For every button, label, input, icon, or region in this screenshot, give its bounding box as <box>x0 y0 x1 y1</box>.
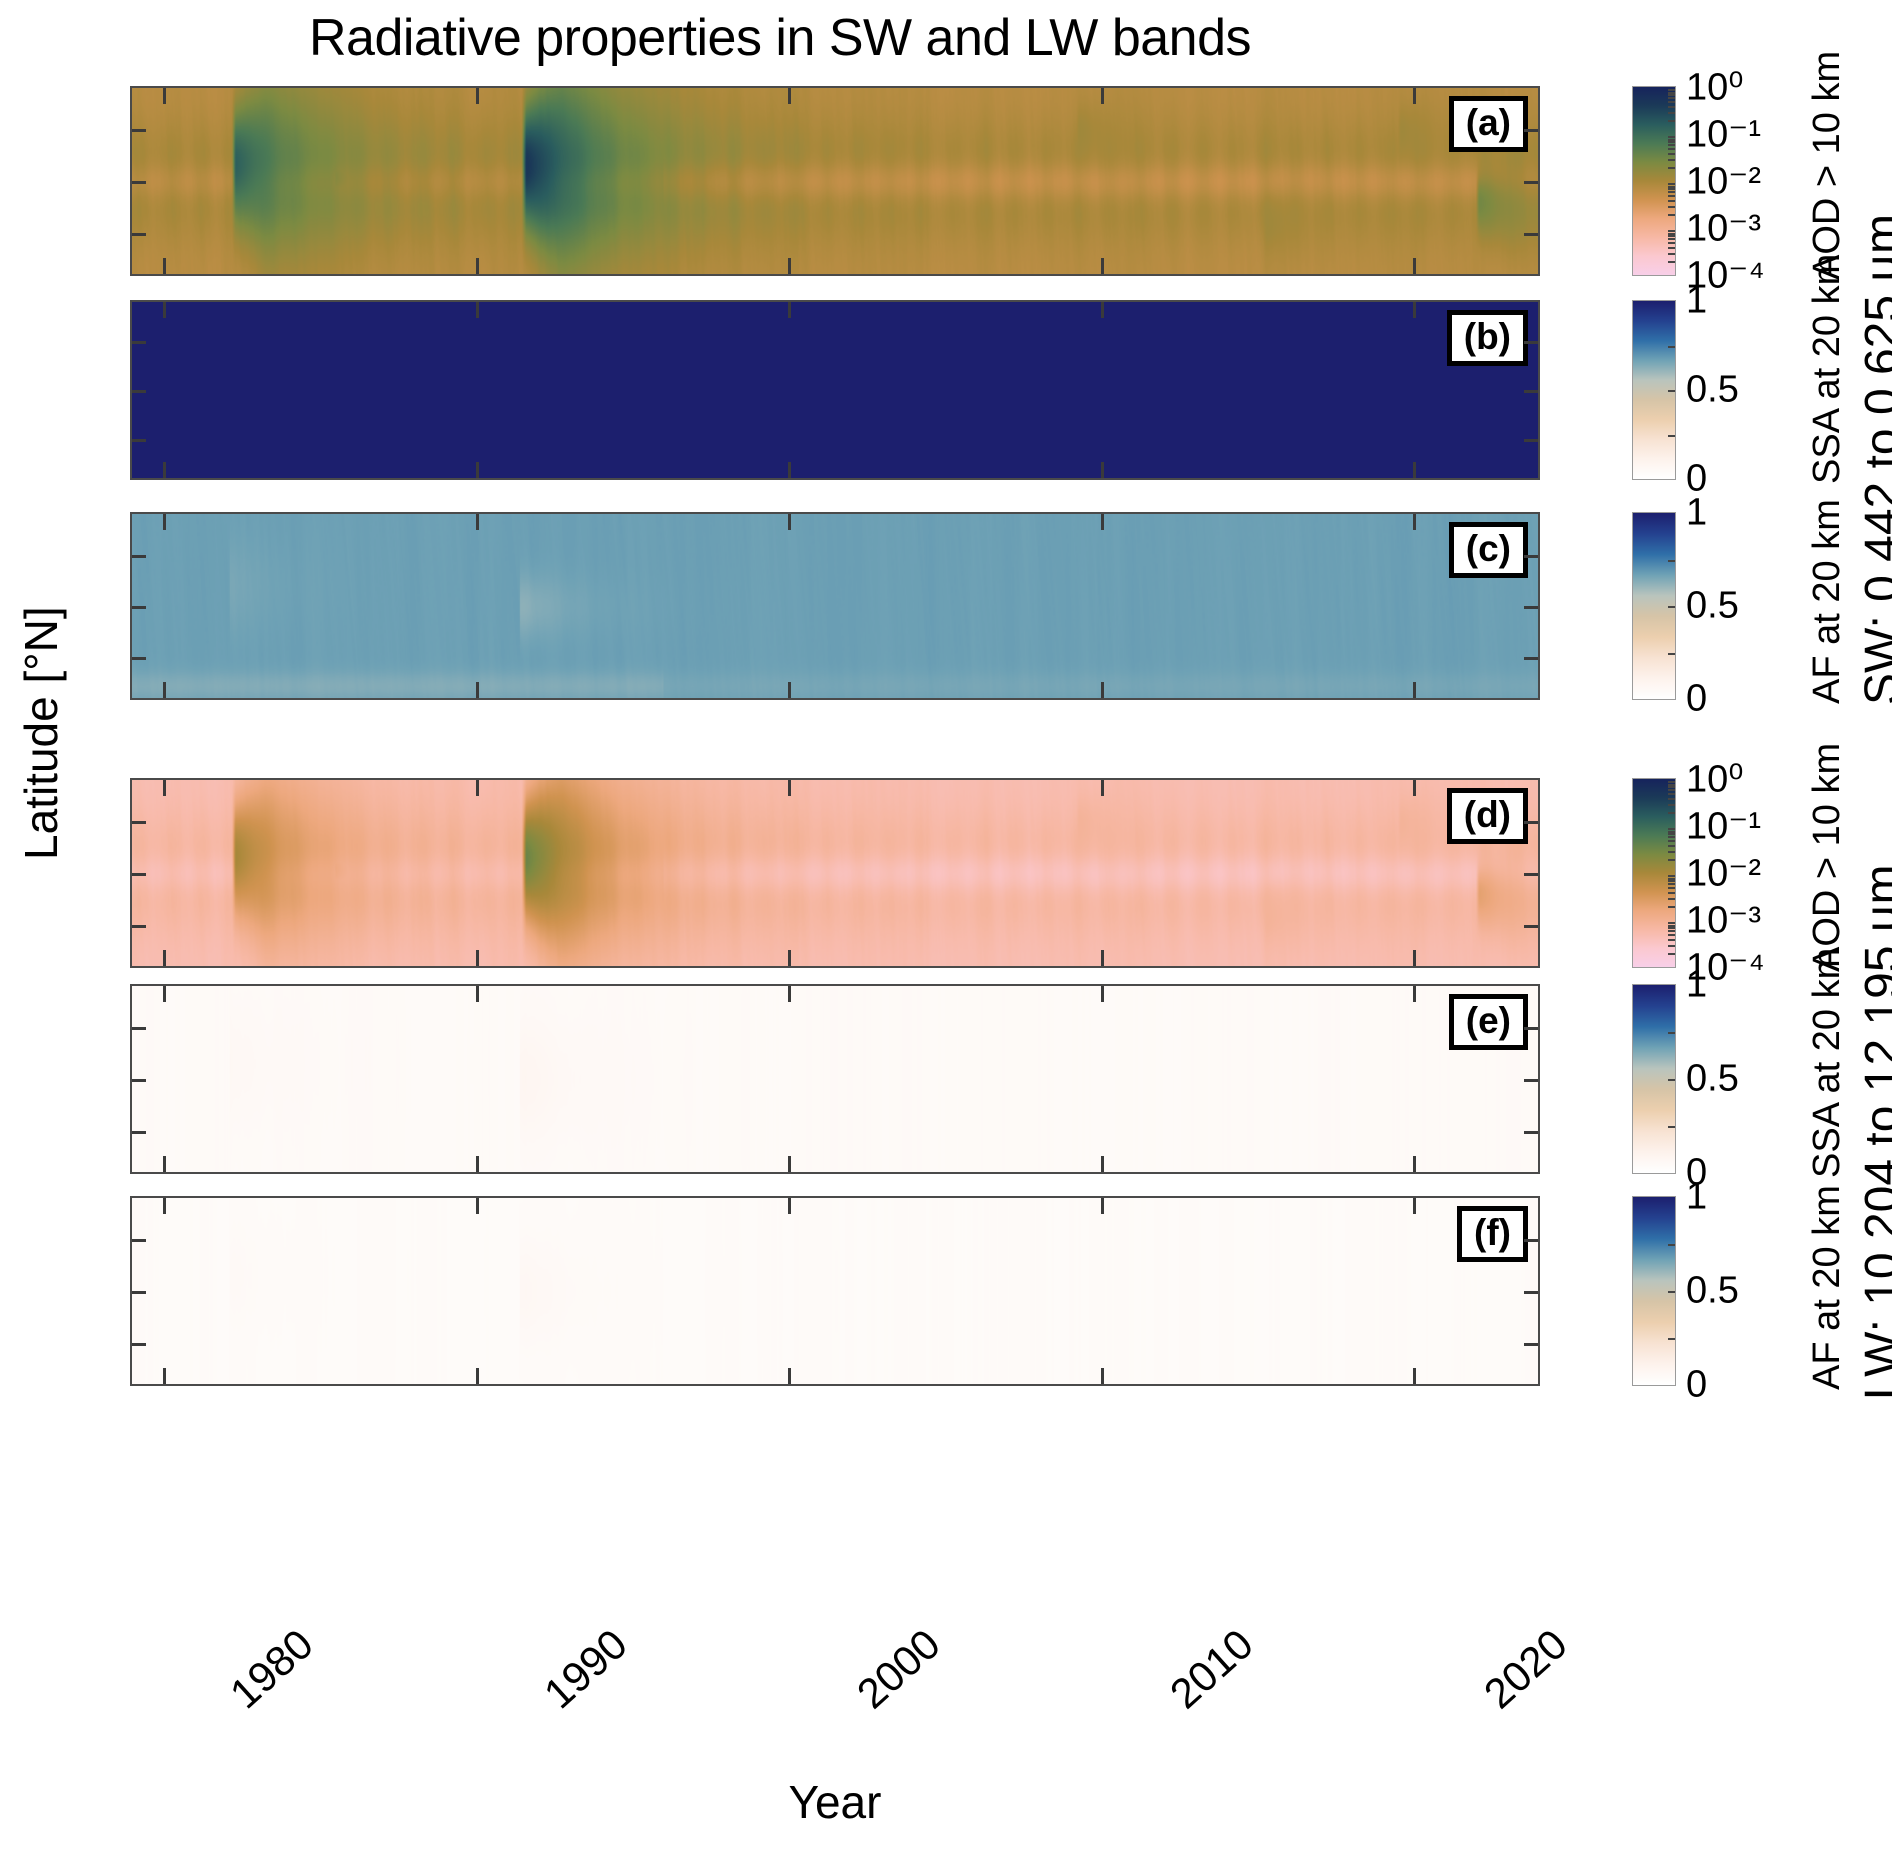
y-tick-mark <box>1524 341 1538 344</box>
x-tick-mark <box>1413 88 1416 104</box>
colorbar-minor-tick <box>1668 195 1675 197</box>
x-tick-label-2010: 2010 <box>1161 1620 1263 1718</box>
y-tick-mark <box>1524 925 1538 928</box>
lw-band-label: LW: 10.204 to 12.195 µm <box>1855 864 1892 1400</box>
colorbar-minor-tick <box>1668 233 1675 235</box>
x-tick-mark <box>163 986 166 1002</box>
colorbar-minor-tick <box>1668 144 1675 146</box>
x-tick-label-2000: 2000 <box>848 1620 950 1718</box>
x-tick-mark <box>476 780 479 796</box>
x-tick-mark <box>788 88 791 104</box>
y-tick-mark <box>132 1239 146 1242</box>
y-tick-mark <box>132 606 146 609</box>
panel-e-heatmap <box>132 986 1538 1172</box>
colorbar-minor-tick <box>1668 148 1675 150</box>
colorbar-minor-tick <box>1668 784 1675 786</box>
colorbar-minor-tick <box>1668 883 1675 885</box>
colorbar-minor-tick <box>1668 789 1675 791</box>
colorbar-minor-tick <box>1668 831 1675 833</box>
x-tick-mark <box>788 986 791 1002</box>
colorbar-minor-tick <box>1668 812 1675 814</box>
x-tick-mark <box>476 1198 479 1214</box>
panel-f-heatmap <box>132 1198 1538 1384</box>
colorbar-minor-tick <box>1668 153 1675 155</box>
x-tick-mark <box>476 514 479 530</box>
colorbar-tick-label: 0.5 <box>1686 369 1739 412</box>
y-tick-mark <box>132 1131 146 1134</box>
x-tick-mark <box>788 1198 791 1214</box>
colorbar-tick-label: 0.5 <box>1686 585 1739 628</box>
y-tick-mark <box>1524 129 1538 132</box>
x-tick-mark <box>788 514 791 530</box>
colorbar-minor-tick <box>1668 859 1675 861</box>
colorbar-minor-tick <box>1668 435 1675 437</box>
y-tick-mark <box>132 1343 146 1346</box>
colorbar-minor-tick <box>1668 112 1675 114</box>
figure-title: Radiative properties in SW and LW bands <box>0 8 1560 68</box>
colorbar-minor-tick <box>1668 253 1675 255</box>
colorbar-caption-b: SSA at 20 km <box>1806 254 1849 484</box>
sw-band-label: SW: 0.442 to 0.625 µm <box>1855 214 1892 705</box>
y-tick-mark <box>132 181 146 184</box>
colorbar-minor-tick <box>1668 159 1675 161</box>
colorbar-minor-tick <box>1668 261 1675 263</box>
colorbar-minor-tick <box>1668 845 1675 847</box>
colorbar-minor-tick <box>1668 89 1675 91</box>
colorbar-minor-tick <box>1668 235 1675 237</box>
heatmap-canvas <box>132 88 1538 274</box>
x-tick-mark <box>1413 462 1416 478</box>
x-tick-mark <box>1413 1198 1416 1214</box>
x-tick-mark <box>788 1368 791 1384</box>
x-tick-mark <box>1101 986 1104 1002</box>
x-tick-mark <box>1413 780 1416 796</box>
heatmap-canvas <box>132 780 1538 966</box>
colorbar-panel-a: 10⁰10⁻¹10⁻²10⁻³10⁻⁴ <box>1632 86 1676 276</box>
x-tick-mark <box>1413 682 1416 698</box>
colorbar-minor-tick <box>1668 804 1675 806</box>
panel-b-sw-ssa: (b) 500-50 <box>130 300 1540 480</box>
colorbar-minor-tick <box>1668 101 1675 103</box>
x-tick-mark <box>1413 258 1416 274</box>
panel-c-label: (c) <box>1449 522 1528 578</box>
x-tick-mark <box>476 682 479 698</box>
colorbar-minor-tick <box>1668 922 1675 924</box>
colorbar-minor-tick <box>1668 798 1675 800</box>
y-tick-mark <box>132 233 146 236</box>
y-tick-mark <box>132 390 146 393</box>
colorbar-minor-tick <box>1668 120 1675 122</box>
colorbar-tick-label: 1 <box>1686 964 1707 1007</box>
colorbar-tick-label: 1 <box>1686 1176 1707 1219</box>
colorbar-minor-tick <box>1668 191 1675 193</box>
colorbar-minor-tick <box>1668 828 1675 830</box>
colorbar-panel-f: 10.50 <box>1632 1196 1676 1386</box>
panel-a-heatmap <box>132 88 1538 274</box>
colorbar-panel-c: 10.50 <box>1632 512 1676 700</box>
colorbar-minor-tick <box>1668 939 1675 941</box>
colorbar-minor-tick <box>1668 139 1675 141</box>
x-tick-mark <box>788 302 791 318</box>
y-tick-mark <box>1524 1239 1538 1242</box>
colorbar-minor-tick <box>1668 653 1675 655</box>
y-tick-mark <box>132 925 146 928</box>
x-tick-mark <box>1413 950 1416 966</box>
heatmap-canvas <box>132 1198 1538 1384</box>
colorbar-minor-tick <box>1668 1032 1675 1034</box>
x-tick-mark <box>163 682 166 698</box>
x-tick-mark <box>1101 514 1104 530</box>
x-tick-mark <box>1101 780 1104 796</box>
colorbar-minor-tick <box>1668 851 1675 853</box>
colorbar-tick-label: 10⁰ <box>1686 65 1744 110</box>
y-tick-mark <box>1524 1343 1538 1346</box>
x-tick-mark <box>788 462 791 478</box>
colorbar-minor-tick <box>1668 141 1675 143</box>
x-tick-mark <box>1101 682 1104 698</box>
y-tick-mark <box>1524 821 1538 824</box>
y-tick-mark <box>132 1291 146 1294</box>
panel-a-sw-aod: (a) 500-50 <box>130 86 1540 276</box>
colorbar-minor-tick <box>1668 1338 1675 1340</box>
colorbar-tick-label: 1 <box>1686 280 1707 323</box>
colorbar-tick-label: 10⁻² <box>1686 159 1761 204</box>
y-tick-mark <box>1524 233 1538 236</box>
panel-a-label: (a) <box>1449 96 1528 152</box>
colorbar-minor-tick <box>1668 898 1675 900</box>
colorbar-caption-e: SSA at 20 km <box>1806 948 1849 1178</box>
colorbar-minor-tick <box>1668 97 1675 99</box>
y-tick-mark <box>1524 555 1538 558</box>
colorbar-minor-tick <box>1668 214 1675 216</box>
panel-d-label: (d) <box>1447 788 1528 844</box>
panel-d-lw-aod: (d) 500-50 <box>130 778 1540 968</box>
y-tick-mark <box>1524 1079 1538 1082</box>
x-tick-mark <box>1101 88 1104 104</box>
colorbar-caption-d: AOD > 10 km <box>1806 743 1849 972</box>
x-tick-mark <box>476 258 479 274</box>
x-tick-mark <box>788 258 791 274</box>
x-tick-mark <box>1101 302 1104 318</box>
x-tick-mark <box>476 986 479 1002</box>
colorbar-minor-tick <box>1668 390 1675 392</box>
x-tick-mark <box>163 950 166 966</box>
y-tick-mark <box>132 129 146 132</box>
x-tick-mark <box>1101 1198 1104 1214</box>
x-tick-mark <box>163 258 166 274</box>
colorbar-tick-label: 0 <box>1686 1364 1707 1407</box>
y-tick-mark <box>1524 390 1538 393</box>
x-tick-mark <box>1413 1368 1416 1384</box>
colorbar-minor-tick <box>1668 188 1675 190</box>
panel-d-heatmap <box>132 780 1538 966</box>
x-tick-mark <box>163 88 166 104</box>
x-tick-mark <box>1101 950 1104 966</box>
y-tick-mark <box>1524 1131 1538 1134</box>
y-tick-mark <box>132 1079 146 1082</box>
x-tick-mark <box>476 462 479 478</box>
y-tick-mark <box>132 439 146 442</box>
panel-c-sw-af: (c) 500-50 <box>130 512 1540 700</box>
heatmap-canvas <box>132 986 1538 1172</box>
colorbar-minor-tick <box>1668 136 1675 138</box>
x-tick-mark <box>1413 514 1416 530</box>
colorbar-minor-tick <box>1668 925 1675 927</box>
colorbar-minor-tick <box>1668 1244 1675 1246</box>
panel-f-label: (f) <box>1457 1206 1528 1262</box>
colorbar-minor-tick <box>1668 206 1675 208</box>
x-tick-mark <box>476 1368 479 1384</box>
x-tick-mark <box>476 1156 479 1172</box>
y-tick-mark <box>1524 1027 1538 1030</box>
colorbar-panel-d: 10⁰10⁻¹10⁻²10⁻³10⁻⁴ <box>1632 778 1676 968</box>
panel-e-label: (e) <box>1449 994 1528 1050</box>
x-tick-label-1980: 1980 <box>221 1620 323 1718</box>
y-tick-mark <box>132 821 146 824</box>
colorbar-tick-label: 10⁻¹ <box>1686 804 1761 849</box>
colorbar-caption-f: AF at 20 km <box>1806 1185 1849 1390</box>
x-tick-mark <box>163 780 166 796</box>
y-tick-mark <box>132 1027 146 1030</box>
x-tick-mark <box>788 950 791 966</box>
figure-canvas: Radiative properties in SW and LW bands … <box>0 0 1892 1860</box>
colorbar-minor-tick <box>1668 878 1675 880</box>
colorbar-minor-tick <box>1668 242 1675 244</box>
colorbar-tick-label: 10⁰ <box>1686 757 1744 802</box>
x-axis-title: Year <box>130 1775 1540 1829</box>
colorbar-minor-tick <box>1668 953 1675 955</box>
x-tick-mark <box>788 1156 791 1172</box>
colorbar-minor-tick <box>1668 92 1675 94</box>
colorbar-minor-tick <box>1668 1126 1675 1128</box>
y-tick-mark <box>132 555 146 558</box>
colorbar-tick-label: 10⁻³ <box>1686 898 1761 943</box>
heatmap-canvas <box>132 514 1538 698</box>
colorbar-minor-tick <box>1668 840 1675 842</box>
colorbar-minor-tick <box>1668 927 1675 929</box>
colorbar-minor-tick <box>1668 836 1675 838</box>
colorbar-minor-tick <box>1668 906 1675 908</box>
x-tick-mark <box>163 514 166 530</box>
x-tick-mark <box>163 1368 166 1384</box>
x-tick-mark <box>1413 1156 1416 1172</box>
x-tick-mark <box>476 88 479 104</box>
x-tick-mark <box>476 302 479 318</box>
colorbar-minor-tick <box>1668 880 1675 882</box>
colorbar-minor-tick <box>1668 1079 1675 1081</box>
colorbar-minor-tick <box>1668 106 1675 108</box>
y-tick-mark <box>1524 873 1538 876</box>
colorbar-tick-label: 10⁻² <box>1686 851 1761 896</box>
colorbar-minor-tick <box>1668 945 1675 947</box>
x-tick-mark <box>788 682 791 698</box>
y-tick-mark <box>132 873 146 876</box>
colorbar-minor-tick <box>1668 887 1675 889</box>
x-tick-mark <box>163 1198 166 1214</box>
colorbar-minor-tick <box>1668 781 1675 783</box>
y-tick-mark <box>1524 606 1538 609</box>
x-tick-mark <box>1101 1368 1104 1384</box>
panel-e-lw-ssa: (e) 500-50 <box>130 984 1540 1174</box>
colorbar-minor-tick <box>1668 606 1675 608</box>
y-tick-mark <box>132 657 146 660</box>
colorbar-minor-tick <box>1668 560 1675 562</box>
colorbar-minor-tick <box>1668 786 1675 788</box>
x-tick-mark <box>163 462 166 478</box>
colorbar-minor-tick <box>1668 183 1675 185</box>
colorbar-minor-tick <box>1668 94 1675 96</box>
x-tick-mark <box>1101 462 1104 478</box>
colorbar-minor-tick <box>1668 247 1675 249</box>
colorbar-tick-label: 10⁻¹ <box>1686 112 1761 157</box>
colorbar-caption-c: AF at 20 km <box>1806 499 1849 704</box>
x-tick-mark <box>1101 1156 1104 1172</box>
x-tick-mark <box>788 780 791 796</box>
colorbar-minor-tick <box>1668 200 1675 202</box>
colorbar-minor-tick <box>1668 167 1675 169</box>
colorbar-minor-tick <box>1668 186 1675 188</box>
colorbar-minor-tick <box>1668 346 1675 348</box>
colorbar-tick-label: 1 <box>1686 492 1707 535</box>
y-axis-title: Latitude [°N] <box>14 606 68 860</box>
colorbar-minor-tick <box>1668 230 1675 232</box>
x-tick-mark <box>1101 258 1104 274</box>
colorbar-panel-e: 10.50 <box>1632 984 1676 1174</box>
panel-b-heatmap <box>132 302 1538 478</box>
panel-b-label: (b) <box>1447 310 1528 366</box>
colorbar-caption-a: AOD > 10 km <box>1806 51 1849 280</box>
x-tick-mark <box>163 1156 166 1172</box>
x-tick-label-2020: 2020 <box>1475 1620 1577 1718</box>
x-tick-mark <box>1413 986 1416 1002</box>
colorbar-tick-label: 10⁻³ <box>1686 206 1761 251</box>
panel-f-lw-af: (f) 500-50 <box>130 1196 1540 1386</box>
x-tick-mark <box>476 950 479 966</box>
panel-c-heatmap <box>132 514 1538 698</box>
y-tick-mark <box>1524 657 1538 660</box>
y-tick-mark <box>132 341 146 344</box>
y-tick-mark <box>1524 181 1538 184</box>
colorbar-tick-label: 0 <box>1686 678 1707 721</box>
colorbar-minor-tick <box>1668 793 1675 795</box>
x-tick-label-1990: 1990 <box>535 1620 637 1718</box>
colorbar-minor-tick <box>1668 930 1675 932</box>
y-tick-mark <box>1524 439 1538 442</box>
colorbar-panel-b: 10.50 <box>1632 300 1676 480</box>
colorbar-tick-label: 0.5 <box>1686 1058 1739 1101</box>
colorbar-minor-tick <box>1668 833 1675 835</box>
colorbar-tick-label: 0.5 <box>1686 1270 1739 1313</box>
colorbar-minor-tick <box>1668 875 1675 877</box>
colorbar-minor-tick <box>1668 892 1675 894</box>
x-tick-mark <box>1413 302 1416 318</box>
colorbar-minor-tick <box>1668 934 1675 936</box>
y-tick-mark <box>1524 1291 1538 1294</box>
x-tick-mark <box>163 302 166 318</box>
colorbar-minor-tick <box>1668 238 1675 240</box>
colorbar-minor-tick <box>1668 1291 1675 1293</box>
